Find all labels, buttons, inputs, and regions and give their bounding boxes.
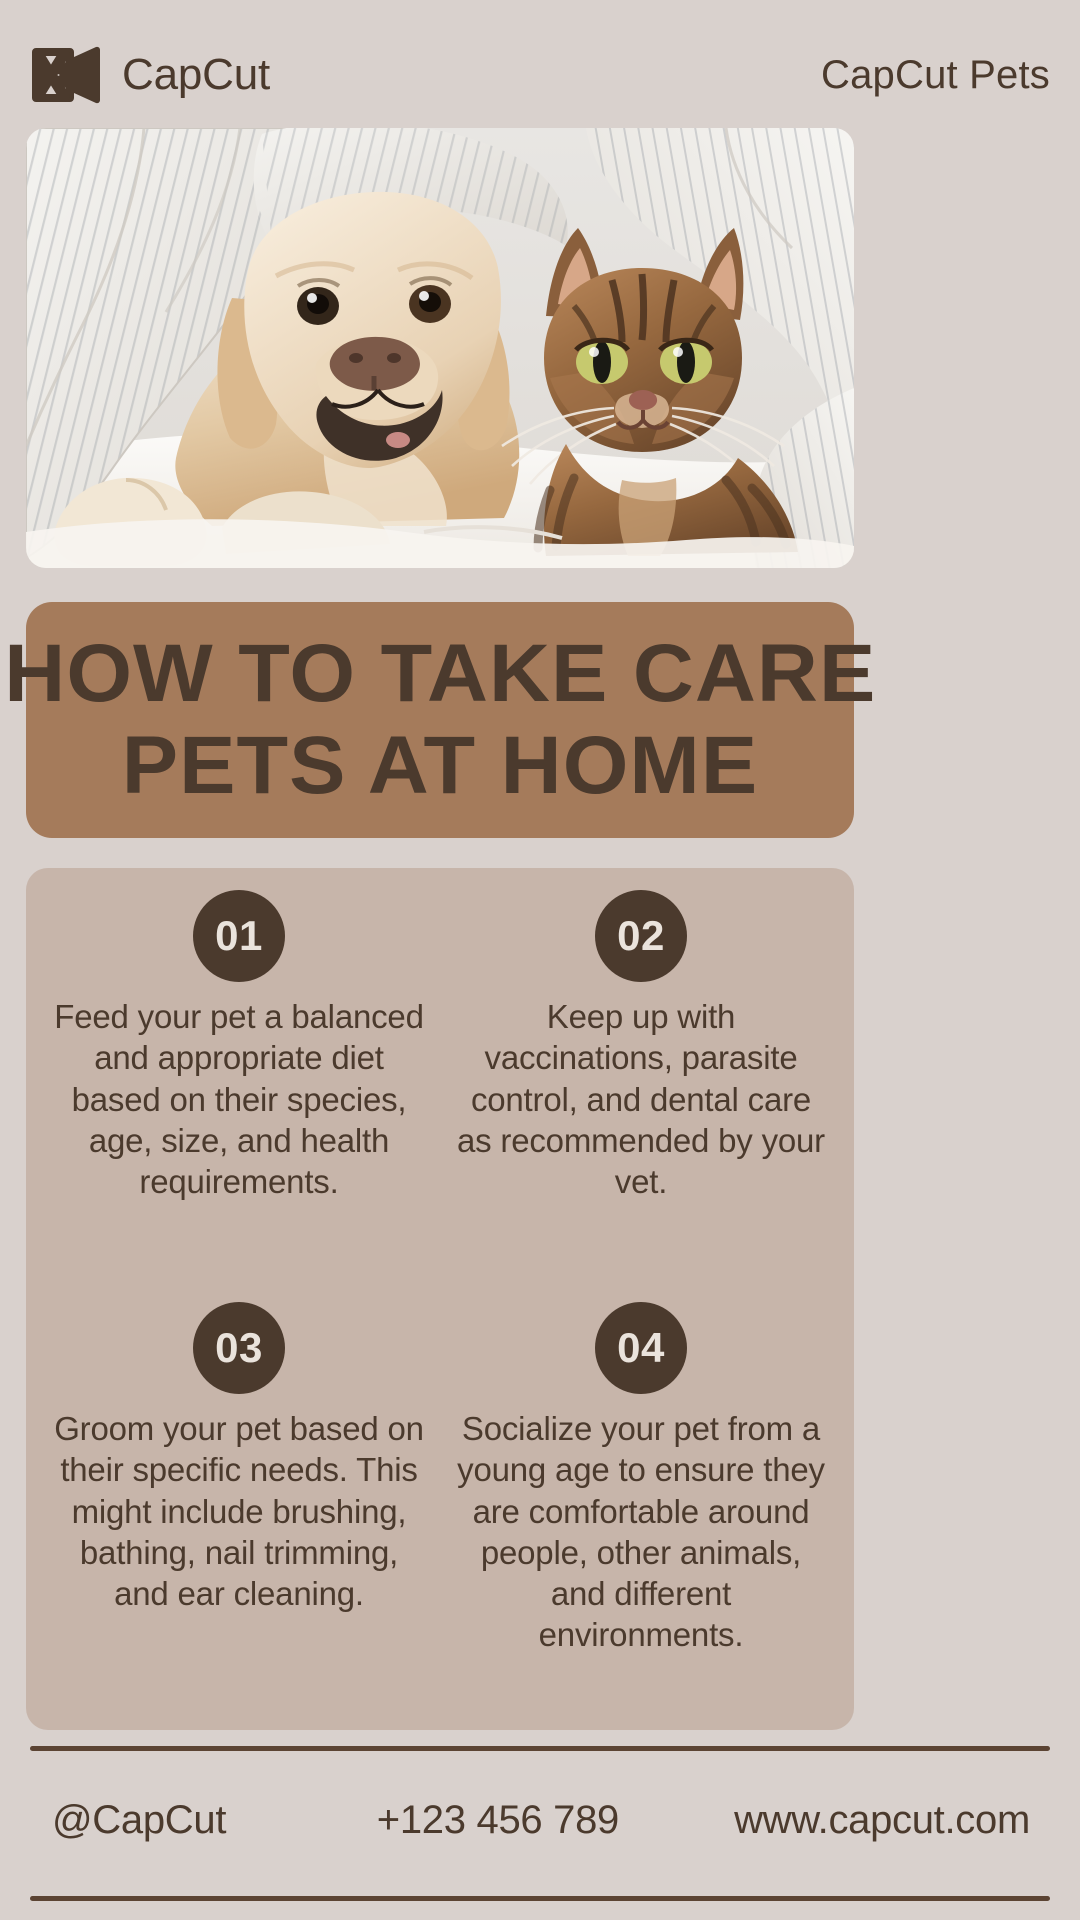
tip-text: Keep up with vaccinations, parasite cont… [452,996,830,1202]
capcut-bowtie-icon [30,44,104,106]
footer-divider-bottom [30,1896,1050,1901]
infographic-poster: CapCut CapCut Pets [0,0,1080,1920]
tip-number-badge: 01 [193,890,285,982]
tip-item: 01 Feed your pet a balanced and appropri… [42,890,436,1292]
footer: @CapCut +123 456 789 www.capcut.com [30,1785,1050,1855]
footer-social-handle[interactable]: @CapCut [30,1800,377,1840]
footer-divider-top [30,1746,1050,1751]
tip-text: Groom your pet based on their specific n… [50,1408,428,1614]
footer-website[interactable]: www.capcut.com [683,1800,1050,1840]
tip-item: 03 Groom your pet based on their specifi… [42,1302,436,1704]
header: CapCut CapCut Pets [0,38,1080,112]
hero-photo [26,128,854,568]
tip-number-badge: 04 [595,1302,687,1394]
tip-text: Socialize your pet from a young age to e… [452,1408,830,1656]
brand-name: CapCut [122,53,270,97]
tip-number-badge: 03 [193,1302,285,1394]
title-banner: HOW TO TAKE CARE PETS AT HOME [26,602,854,838]
page-title-line-1: HOW TO TAKE CARE [4,634,876,714]
tips-card: 01 Feed your pet a balanced and appropri… [26,868,854,1730]
tip-text: Feed your pet a balanced and appropriate… [50,996,428,1202]
footer-phone[interactable]: +123 456 789 [377,1800,683,1840]
page-title-line-2: PETS AT HOME [122,726,758,806]
header-category-label: CapCut Pets [821,55,1050,95]
tip-item: 04 Socialize your pet from a young age t… [444,1302,838,1704]
brand-lockup: CapCut [30,44,270,106]
tip-number-badge: 02 [595,890,687,982]
tip-item: 02 Keep up with vaccinations, parasite c… [444,890,838,1292]
